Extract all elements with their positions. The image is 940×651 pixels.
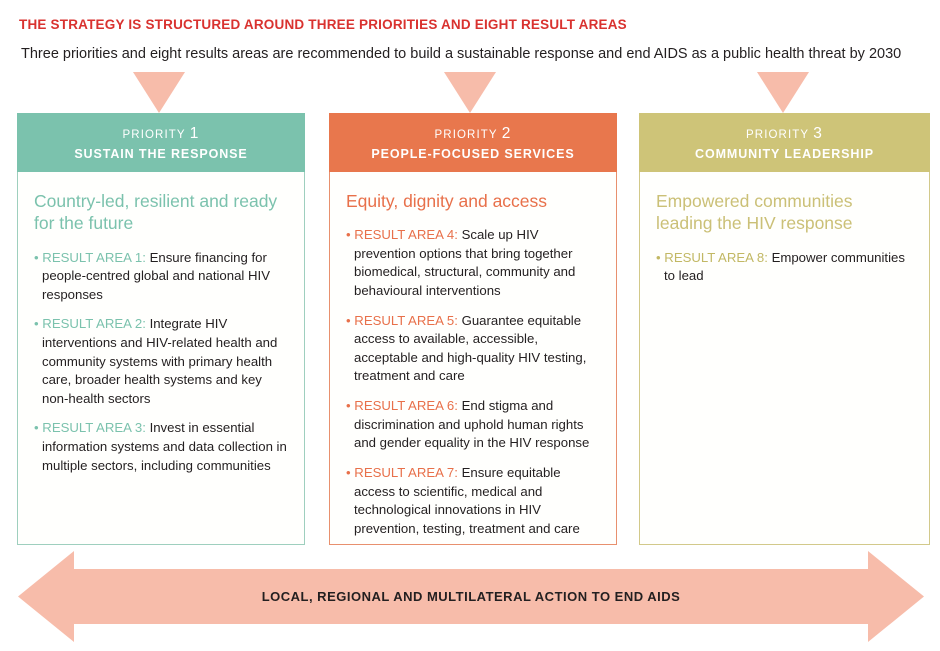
result-area-bullet: •	[346, 313, 351, 328]
priority-lede-3: Empowered communities leading the HIV re…	[656, 190, 913, 235]
result-area-label: RESULT AREA 7:	[354, 465, 458, 480]
result-area-label: RESULT AREA 1:	[42, 250, 146, 265]
result-area-label: RESULT AREA 4:	[354, 227, 458, 242]
result-area-item: • RESULT AREA 6: End stigma and discrimi…	[346, 397, 600, 453]
priority-lede-2: Equity, dignity and access	[346, 190, 600, 212]
priority-header-3: PRIORITY 3 COMMUNITY LEADERSHIP	[639, 113, 930, 172]
priority-body-3: Empowered communities leading the HIV re…	[639, 172, 930, 545]
connector-triangle-icon-2	[444, 72, 496, 113]
result-area-item: • RESULT AREA 7: Ensure equitable access…	[346, 464, 600, 538]
result-area-bullet: •	[656, 250, 661, 265]
priority-column-2: PRIORITY 2 PEOPLE-FOCUSED SERVICES Equit…	[329, 113, 617, 545]
result-area-item: • RESULT AREA 2: Integrate HIV intervent…	[34, 315, 288, 408]
result-area-item: • RESULT AREA 4: Scale up HIV prevention…	[346, 226, 600, 300]
result-area-label: RESULT AREA 5:	[354, 313, 458, 328]
connector-triangle-icon-3	[757, 72, 809, 113]
priority-header-1: PRIORITY 1 SUSTAIN THE RESPONSE	[17, 113, 305, 172]
priority-column-1: PRIORITY 1 SUSTAIN THE RESPONSE Country-…	[17, 113, 305, 545]
footer-arrow-banner: LOCAL, REGIONAL AND MULTILATERAL ACTION …	[18, 551, 924, 642]
result-area-item: • RESULT AREA 1: Ensure financing for pe…	[34, 249, 288, 305]
result-area-bullet: •	[346, 227, 351, 242]
result-area-item: • RESULT AREA 3: Invest in essential inf…	[34, 419, 288, 475]
result-area-bullet: •	[34, 250, 39, 265]
result-area-item: • RESULT AREA 5: Guarantee equitable acc…	[346, 312, 600, 386]
result-area-label: RESULT AREA 2:	[42, 316, 146, 331]
priority-name-3: COMMUNITY LEADERSHIP	[645, 147, 924, 161]
result-area-item: • RESULT AREA 8: Empower communities to …	[656, 249, 913, 286]
page-title: THE STRATEGY IS STRUCTURED AROUND THREE …	[19, 17, 627, 32]
priority-label-1: PRIORITY 1	[23, 125, 299, 143]
priority-word-2: PRIORITY	[435, 129, 498, 141]
result-area-bullet: •	[346, 398, 351, 413]
priority-column-3: PRIORITY 3 COMMUNITY LEADERSHIP Empowere…	[639, 113, 930, 545]
result-area-bullet: •	[34, 316, 39, 331]
priority-label-3: PRIORITY 3	[645, 125, 924, 143]
result-area-label: RESULT AREA 3:	[42, 420, 146, 435]
priority-body-1: Country-led, resilient and ready for the…	[17, 172, 305, 545]
result-area-label: RESULT AREA 6:	[354, 398, 458, 413]
result-area-bullet: •	[34, 420, 39, 435]
result-area-bullet: •	[346, 465, 351, 480]
priority-number-3: 3	[813, 125, 823, 142]
priority-lede-1: Country-led, resilient and ready for the…	[34, 190, 288, 235]
priority-word-1: PRIORITY	[123, 129, 186, 141]
page-subtitle: Three priorities and eight results areas…	[21, 46, 901, 62]
priority-name-1: SUSTAIN THE RESPONSE	[23, 147, 299, 161]
priority-body-2: Equity, dignity and access • RESULT AREA…	[329, 172, 617, 545]
double-arrow-icon	[18, 551, 924, 642]
connector-triangle-icon-1	[133, 72, 185, 113]
priority-label-2: PRIORITY 2	[335, 125, 611, 143]
priority-columns: PRIORITY 1 SUSTAIN THE RESPONSE Country-…	[0, 113, 940, 545]
priority-name-2: PEOPLE-FOCUSED SERVICES	[335, 147, 611, 161]
priority-number-1: 1	[190, 125, 200, 142]
result-area-label: RESULT AREA 8:	[664, 250, 768, 265]
priority-word-3: PRIORITY	[746, 129, 809, 141]
priority-number-2: 2	[502, 125, 512, 142]
priority-header-2: PRIORITY 2 PEOPLE-FOCUSED SERVICES	[329, 113, 617, 172]
